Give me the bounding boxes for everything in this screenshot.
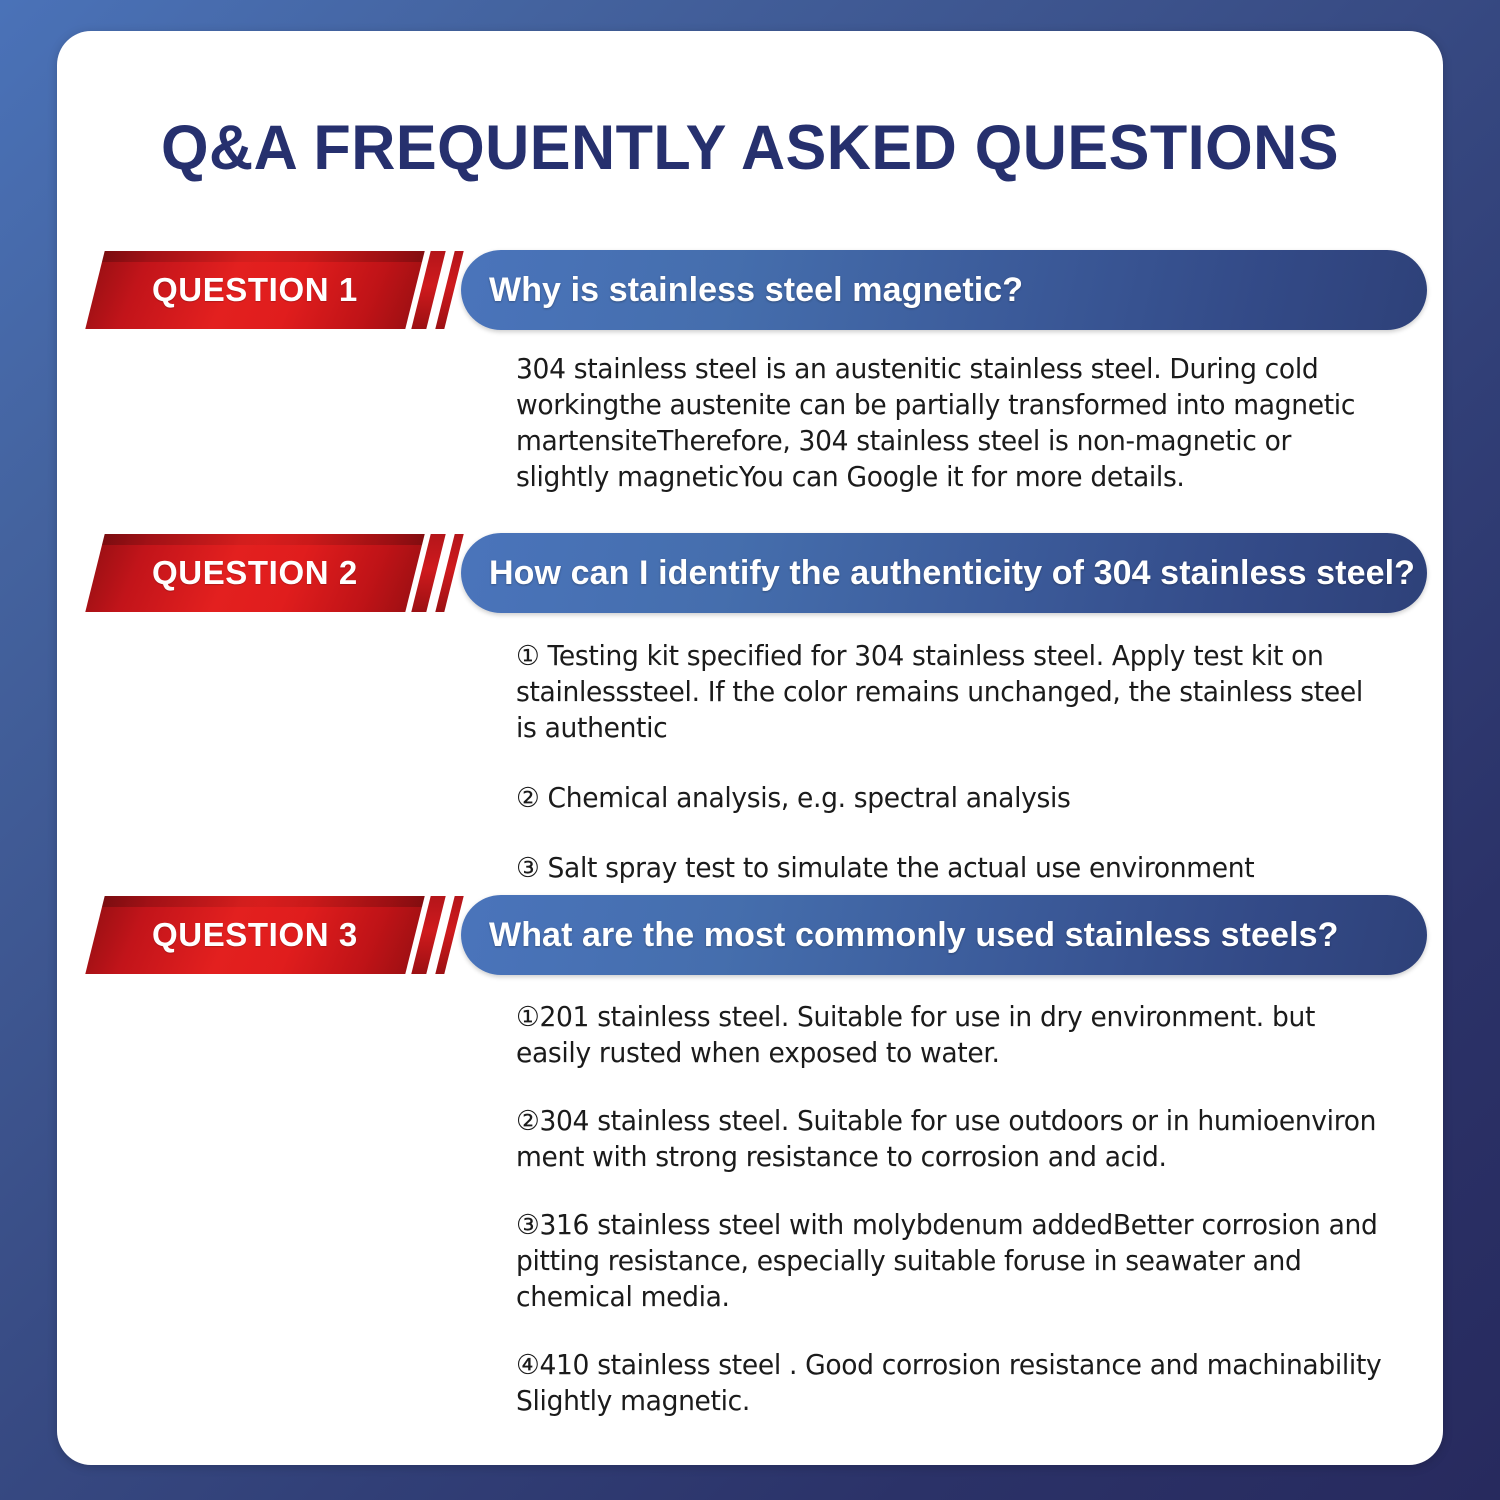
question-badge-1[interactable]: QUESTION 1 bbox=[85, 251, 424, 329]
question-pill-2[interactable]: How can I identify the authenticity of 3… bbox=[461, 533, 1427, 613]
answer-paragraph: ③316 stainless steel with molybdenum add… bbox=[516, 1207, 1385, 1315]
question-pill-1[interactable]: Why is stainless steel magnetic? bbox=[461, 250, 1427, 330]
question-header-2: QUESTION 2 How can I identify the authen… bbox=[57, 533, 1443, 613]
question-badge-label-3: QUESTION 3 bbox=[152, 916, 358, 954]
question-heading-2: How can I identify the authenticity of 3… bbox=[489, 554, 1415, 593]
faq-card: Q&A FREQUENTLY ASKED QUESTIONS QUESTION … bbox=[57, 31, 1443, 1465]
answer-block-3: ①201 stainless steel. Suitable for use i… bbox=[516, 999, 1385, 1419]
question-badge-label-2: QUESTION 2 bbox=[152, 554, 358, 592]
page-title: Q&A FREQUENTLY ASKED QUESTIONS bbox=[78, 117, 1422, 180]
answer-paragraph: ①201 stainless steel. Suitable for use i… bbox=[516, 999, 1385, 1071]
question-badge-label-1: QUESTION 1 bbox=[152, 271, 358, 309]
question-header-3: QUESTION 3 What are the most commonly us… bbox=[57, 895, 1443, 975]
answer-paragraph: ① Testing kit specified for 304 stainles… bbox=[516, 638, 1385, 746]
question-badge-3[interactable]: QUESTION 3 bbox=[85, 896, 424, 974]
question-badge-2[interactable]: QUESTION 2 bbox=[85, 534, 424, 612]
answer-paragraph: ② Chemical analysis, e.g. spectral analy… bbox=[516, 780, 1385, 816]
answer-paragraph: ④410 stainless steel . Good corrosion re… bbox=[516, 1347, 1385, 1419]
answer-paragraph: 304 stainless steel is an austenitic sta… bbox=[516, 351, 1385, 495]
question-heading-1: Why is stainless steel magnetic? bbox=[489, 271, 1023, 310]
question-header-1: QUESTION 1 Why is stainless steel magnet… bbox=[57, 250, 1443, 330]
answer-block-1: 304 stainless steel is an austenitic sta… bbox=[516, 351, 1385, 495]
question-heading-3: What are the most commonly used stainles… bbox=[489, 916, 1339, 955]
answer-paragraph: ③ Salt spray test to simulate the actual… bbox=[516, 850, 1385, 886]
faq-page: Q&A FREQUENTLY ASKED QUESTIONS QUESTION … bbox=[0, 0, 1500, 1500]
answer-block-2: ① Testing kit specified for 304 stainles… bbox=[516, 638, 1385, 886]
question-pill-3[interactable]: What are the most commonly used stainles… bbox=[461, 895, 1427, 975]
answer-paragraph: ②304 stainless steel. Suitable for use o… bbox=[516, 1103, 1385, 1175]
